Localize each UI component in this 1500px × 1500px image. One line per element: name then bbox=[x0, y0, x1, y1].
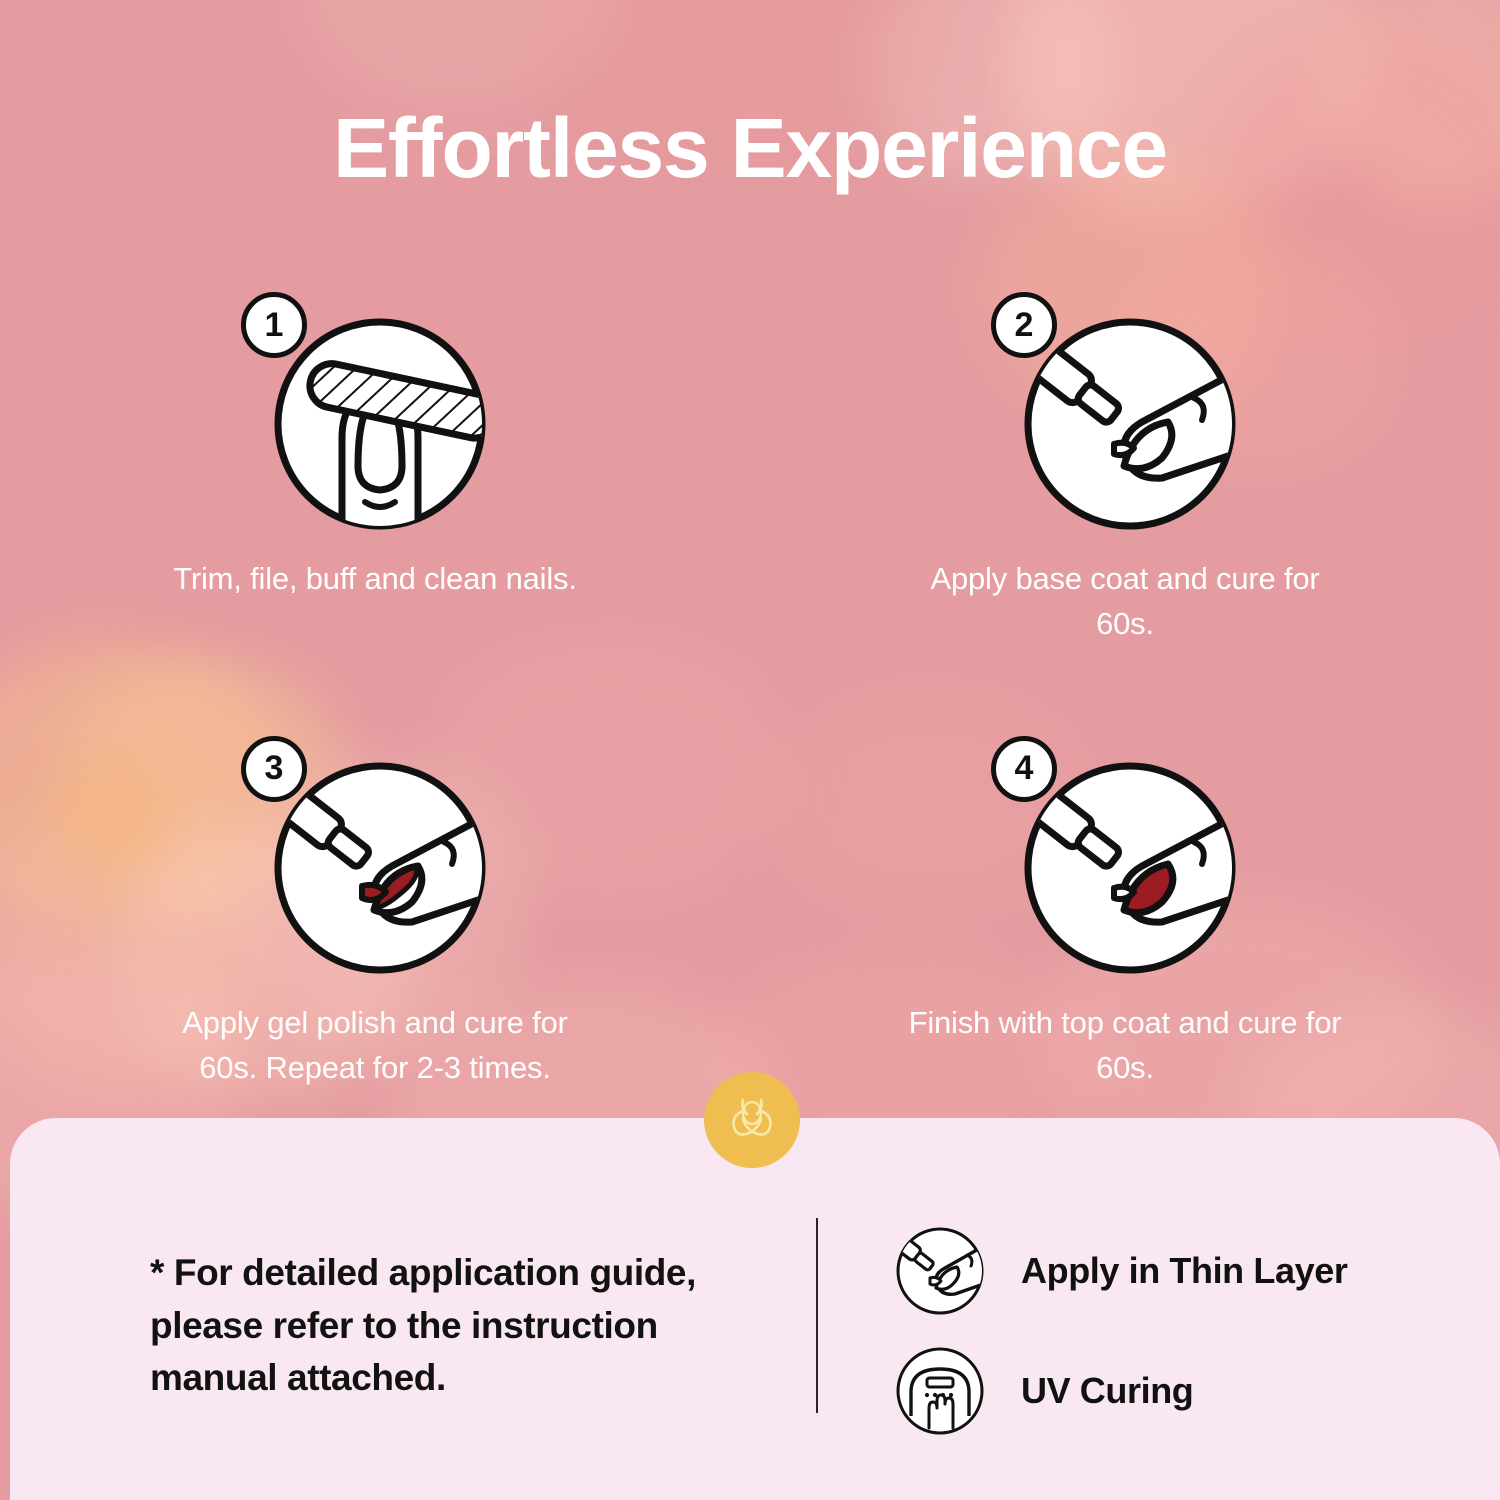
footer-tips: Apply in Thin Layer UV bbox=[893, 1224, 1347, 1438]
step-item: 3 bbox=[0, 729, 750, 1091]
base-coat-brush-icon bbox=[1022, 316, 1238, 532]
footer-note: * For detailed application guide, please… bbox=[150, 1247, 770, 1405]
infographic-poster: Effortless Experience 1 bbox=[0, 0, 1500, 1500]
step-caption: Trim, file, buff and clean nails. bbox=[155, 557, 595, 602]
step-caption: Finish with top coat and cure for 60s. bbox=[905, 1001, 1345, 1091]
tip-label: Apply in Thin Layer bbox=[1021, 1250, 1347, 1292]
step-caption: Apply gel polish and cure for 60s. Repea… bbox=[155, 1001, 595, 1091]
tip-item: UV Curing bbox=[893, 1344, 1347, 1438]
nail-file-icon bbox=[272, 316, 488, 532]
page-title: Effortless Experience bbox=[0, 104, 1500, 192]
footer-divider bbox=[816, 1218, 818, 1413]
step-item: 1 bbox=[0, 285, 750, 647]
uv-lamp-icon bbox=[893, 1344, 987, 1438]
step-4-illustration: 4 bbox=[975, 729, 1275, 979]
top-coat-brush-icon bbox=[1022, 760, 1238, 976]
tip-label: UV Curing bbox=[1021, 1370, 1193, 1412]
bee-logo-icon bbox=[721, 1089, 783, 1151]
note-marker: * bbox=[150, 1252, 164, 1293]
brand-badge bbox=[704, 1072, 800, 1168]
step-caption: Apply base coat and cure for 60s. bbox=[905, 557, 1345, 647]
step-item: 2 bbox=[750, 285, 1500, 647]
step-3-illustration: 3 bbox=[225, 729, 525, 979]
step-number-badge: 3 bbox=[241, 736, 307, 802]
step-number-badge: 4 bbox=[991, 736, 1057, 802]
thin-layer-brush-icon bbox=[893, 1224, 987, 1318]
note-text: For detailed application guide, please r… bbox=[150, 1252, 696, 1398]
steps-grid: 1 bbox=[0, 285, 1500, 1091]
tip-item: Apply in Thin Layer bbox=[893, 1224, 1347, 1318]
step-number-badge: 2 bbox=[991, 292, 1057, 358]
step-2-illustration: 2 bbox=[975, 285, 1275, 535]
step-number-badge: 1 bbox=[241, 292, 307, 358]
gel-polish-brush-icon bbox=[272, 760, 488, 976]
step-1-illustration: 1 bbox=[225, 285, 525, 535]
step-item: 4 bbox=[750, 729, 1500, 1091]
